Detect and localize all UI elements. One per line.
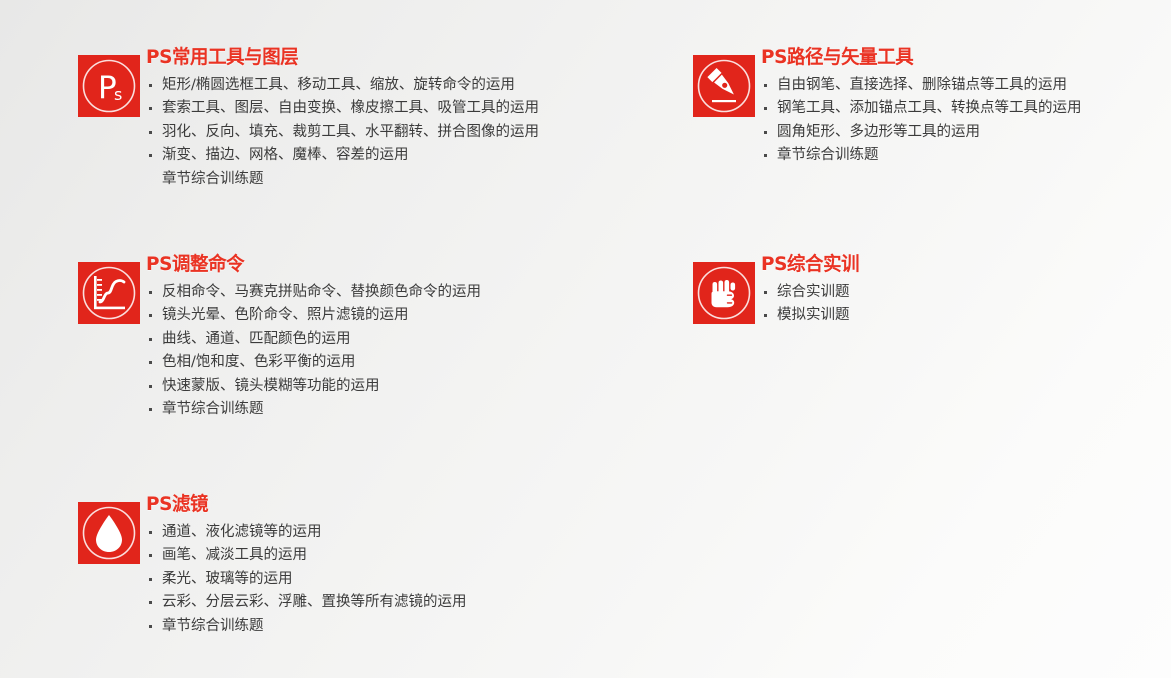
section-body: PS综合实训 综合实训题 模拟实训题 [761,252,862,328]
section-item-list: 通道、液化滤镜等的运用 画笔、减淡工具的运用 柔光、玻璃等的运用 云彩、分层云彩… [146,521,467,638]
list-item: 云彩、分层云彩、浮雕、置换等所有滤镜的运用 [146,591,467,614]
list-item: 模拟实训题 [761,304,862,327]
section-title: PS滤镜 [146,492,457,516]
section-body: PS滤镜 通道、液化滤镜等的运用 画笔、减淡工具的运用 柔光、玻璃等的运用 云彩… [146,492,467,638]
list-item: 矩形/椭圆选框工具、移动工具、缩放、旋转命令的运用 [146,74,539,97]
list-item: 章节综合训练题 [146,615,467,638]
list-item: 通道、液化滤镜等的运用 [146,521,467,544]
svg-text:s: s [114,85,122,104]
list-item: 套索工具、图层、自由变换、橡皮擦工具、吸管工具的运用 [146,97,539,120]
section-ps-comprehensive-training: PS综合实训 综合实训题 模拟实训题 [693,252,862,328]
list-item: 章节综合训练题 [146,398,481,421]
section-ps-adjustment-commands: PS调整命令 反相命令、马赛克拼贴命令、替换颜色命令的运用 镜头光晕、色阶命令、… [78,252,481,421]
section-ps-common-tools-and-layers: P s PS常用工具与图层 矩形/椭圆选框工具、移动工具、缩放、旋转命令的运用 … [78,45,539,191]
list-item: 快速蒙版、镜头模糊等功能的运用 [146,375,481,398]
slide-canvas: P s PS常用工具与图层 矩形/椭圆选框工具、移动工具、缩放、旋转命令的运用 … [0,0,1171,678]
list-item: 羽化、反向、填充、裁剪工具、水平翻转、拼合图像的运用 [146,121,539,144]
section-ps-paths-and-vector-tools: PS路径与矢量工具 自由钢笔、直接选择、删除锚点等工具的运用 钢笔工具、添加锚点… [693,45,1082,168]
section-body: PS常用工具与图层 矩形/椭圆选框工具、移动工具、缩放、旋转命令的运用 套索工具… [146,45,539,191]
list-item: 曲线、通道、匹配颜色的运用 [146,328,481,351]
section-item-list: 反相命令、马赛克拼贴命令、替换颜色命令的运用 镜头光晕、色阶命令、照片滤镜的运用… [146,281,481,421]
list-item: 画笔、减淡工具的运用 [146,544,467,567]
section-title: PS调整命令 [146,252,471,276]
section-item-list: 矩形/椭圆选框工具、移动工具、缩放、旋转命令的运用 套索工具、图层、自由变换、橡… [146,74,539,191]
section-title: PS路径与矢量工具 [761,45,1072,69]
list-item: 综合实训题 [761,281,862,304]
list-item: 章节综合训练题 [146,168,539,191]
list-item: 镜头光晕、色阶命令、照片滤镜的运用 [146,304,481,327]
list-item: 柔光、玻璃等的运用 [146,568,467,591]
section-item-list: 自由钢笔、直接选择、删除锚点等工具的运用 钢笔工具、添加锚点工具、转换点等工具的… [761,74,1082,168]
pen-nib-icon [693,55,755,117]
list-item: 圆角矩形、多边形等工具的运用 [761,121,1082,144]
list-item: 渐变、描边、网格、魔棒、容差的运用 [146,144,539,167]
section-title: PS综合实训 [761,252,859,276]
section-item-list: 综合实训题 模拟实训题 [761,281,862,328]
water-drop-icon [78,502,140,564]
section-title: PS常用工具与图层 [146,45,527,69]
list-item: 章节综合训练题 [761,144,1082,167]
list-item: 钢笔工具、添加锚点工具、转换点等工具的运用 [761,97,1082,120]
fist-hand-icon [693,262,755,324]
list-item: 色相/饱和度、色彩平衡的运用 [146,351,481,374]
section-body: PS调整命令 反相命令、马赛克拼贴命令、替换颜色命令的运用 镜头光晕、色阶命令、… [146,252,481,421]
list-item: 自由钢笔、直接选择、删除锚点等工具的运用 [761,74,1082,97]
list-item: 反相命令、马赛克拼贴命令、替换颜色命令的运用 [146,281,481,304]
photoshop-ps-logo-icon: P s [78,55,140,117]
curves-levels-graph-icon [78,262,140,324]
section-ps-filters: PS滤镜 通道、液化滤镜等的运用 画笔、减淡工具的运用 柔光、玻璃等的运用 云彩… [78,492,467,638]
section-body: PS路径与矢量工具 自由钢笔、直接选择、删除锚点等工具的运用 钢笔工具、添加锚点… [761,45,1082,168]
